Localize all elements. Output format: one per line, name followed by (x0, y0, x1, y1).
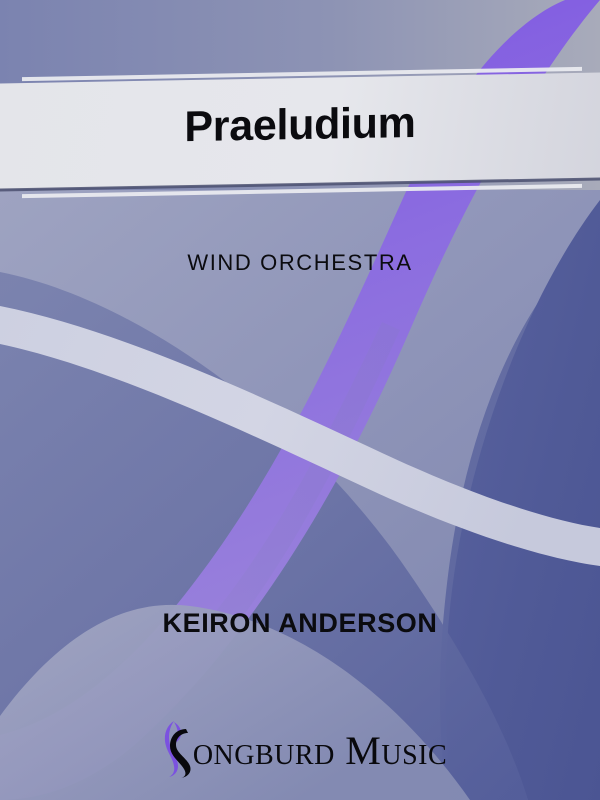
publisher-logo: ongburd Music (0, 713, 600, 783)
ensemble-subtitle: WIND ORCHESTRA (0, 250, 600, 276)
publisher-wordmark: ongburd Music (193, 731, 447, 771)
sheet-music-cover: Praeludium WIND ORCHESTRA KEIRON ANDERSO… (0, 0, 600, 800)
composer-name: KEIRON ANDERSON (0, 608, 600, 639)
